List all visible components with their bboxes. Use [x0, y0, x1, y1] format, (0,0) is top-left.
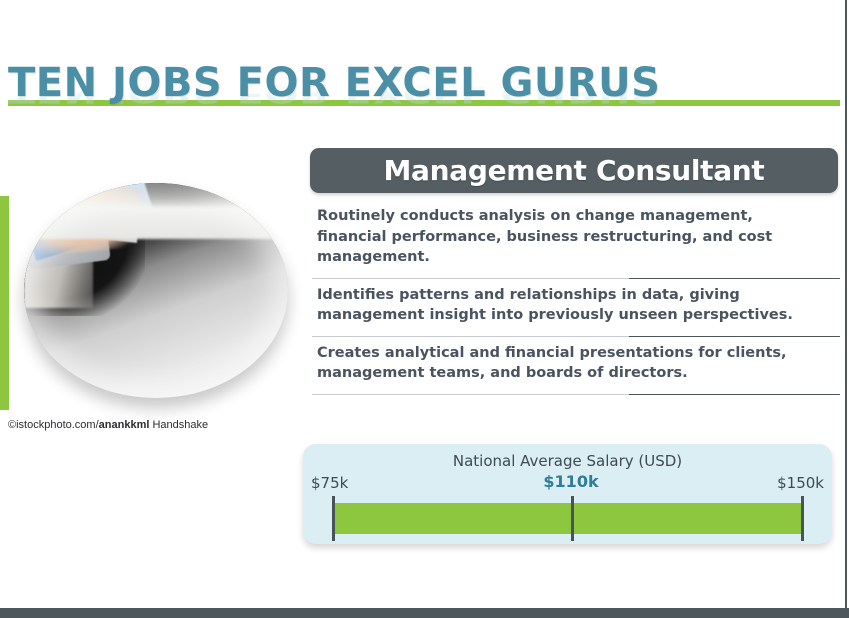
page-bottom-bar [0, 608, 849, 618]
slide-title-block: TEN JOBS FOR EXCEL GURUS TEN JOBS FOR EX… [8, 60, 848, 135]
salary-average-label: $110k [543, 472, 598, 491]
slide-canvas: TEN JOBS FOR EXCEL GURUS TEN JOBS FOR EX… [0, 0, 849, 618]
photo-credit: ©istockphoto.com/anankkml Handshake [8, 419, 208, 431]
salary-range-bar [332, 503, 804, 534]
salary-min-label: $75k [311, 474, 348, 492]
photo-credit-prefix: ©istockphoto.com/ [8, 419, 99, 431]
job-duties-list: Routinely conducts analysis on change ma… [312, 200, 840, 395]
list-item: Identifies patterns and relationships in… [312, 279, 840, 337]
salary-tick-max [801, 496, 804, 541]
job-title-text: Management Consultant [383, 154, 764, 187]
salary-tick-average [571, 496, 574, 541]
duty-text: Creates analytical and financial present… [317, 343, 827, 384]
photo-credit-suffix: Handshake [149, 419, 208, 431]
salary-tick-min [332, 496, 335, 541]
salary-chart-title: National Average Salary (USD) [303, 452, 832, 470]
page-right-border [845, 0, 847, 618]
handshake-photo [24, 183, 288, 398]
list-item: Routinely conducts analysis on change ma… [312, 200, 840, 279]
list-item: Creates analytical and financial present… [312, 337, 840, 395]
photo-credit-author: anankkml [99, 419, 150, 431]
page-title: TEN JOBS FOR EXCEL GURUS [8, 60, 660, 106]
salary-max-label: $150k [777, 474, 824, 492]
salary-chart-panel: National Average Salary (USD) $75k $110k… [303, 444, 832, 544]
duty-text: Identifies patterns and relationships in… [317, 285, 827, 326]
green-accent-bar [0, 196, 9, 410]
duty-text: Routinely conducts analysis on change ma… [317, 206, 827, 268]
job-title-banner: Management Consultant [310, 148, 838, 193]
